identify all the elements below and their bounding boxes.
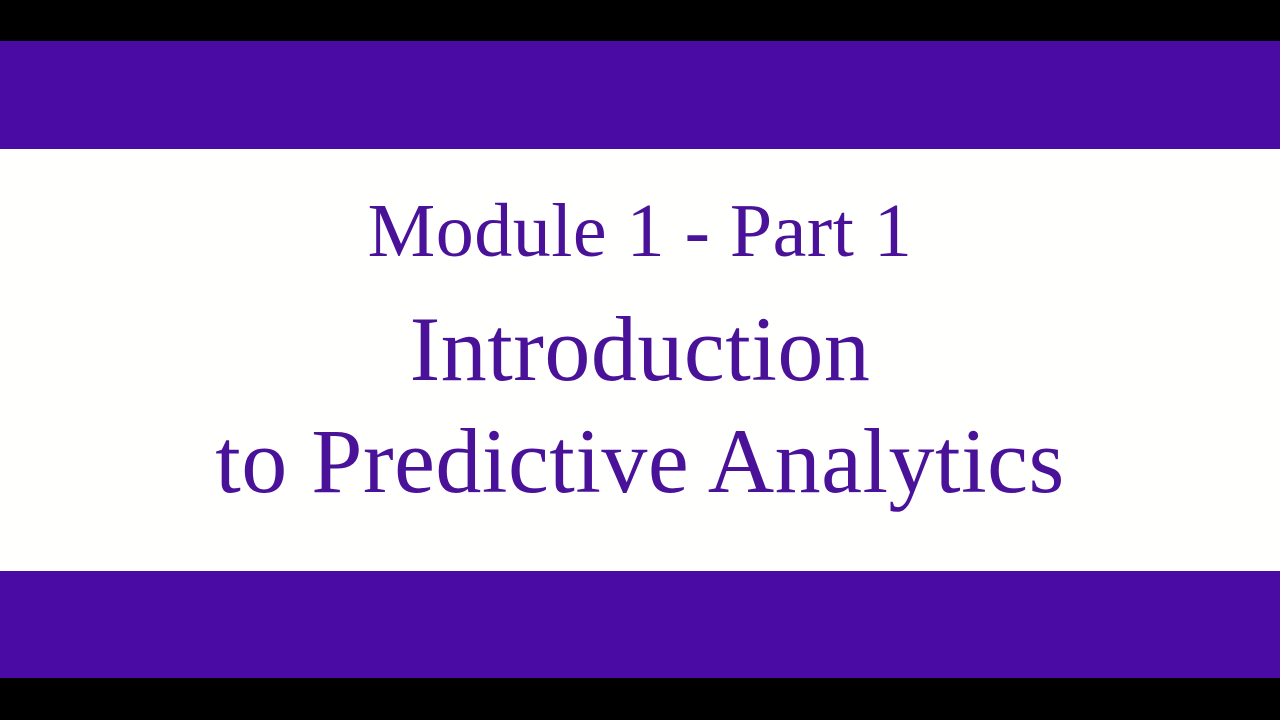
decorative-band-top (0, 41, 1280, 149)
slide-heading: Introduction (410, 303, 871, 395)
letterbox-top-bar (0, 0, 1280, 41)
video-slide-frame: Module 1 - Part 1 Introduction to Predic… (0, 0, 1280, 720)
letterbox-bottom-bar (0, 678, 1280, 720)
decorative-band-bottom (0, 571, 1280, 678)
title-block: Module 1 - Part 1 Introduction to Predic… (0, 149, 1280, 571)
slide-subheading: to Predictive Analytics (215, 415, 1065, 507)
module-label: Module 1 - Part 1 (368, 193, 913, 269)
slide-canvas: Module 1 - Part 1 Introduction to Predic… (0, 41, 1280, 678)
